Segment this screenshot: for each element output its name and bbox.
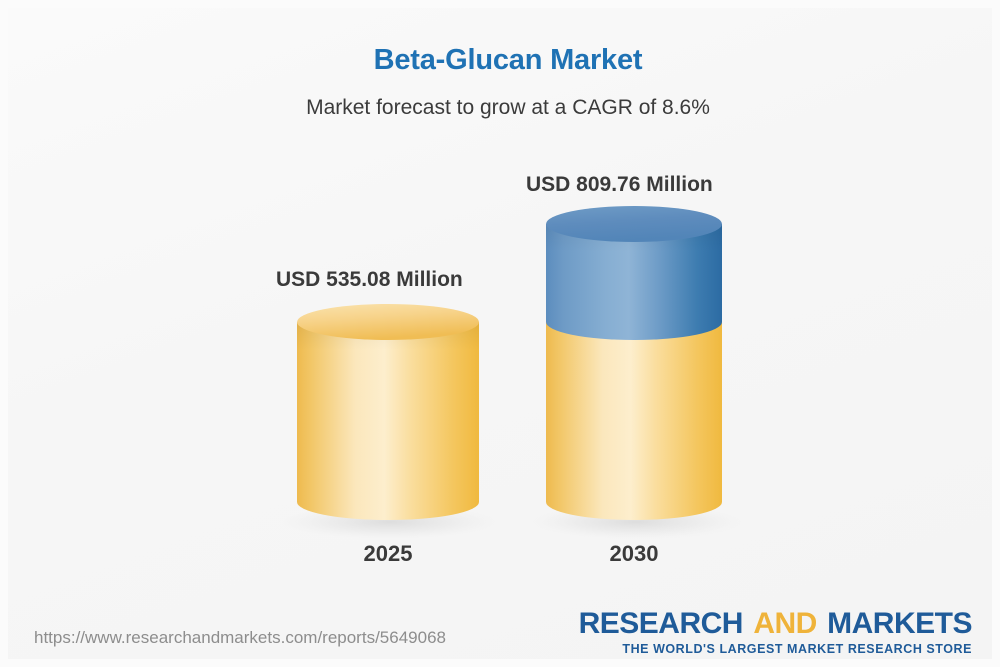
bar-2030-category-label: 2030 bbox=[546, 541, 722, 567]
cylinder-bar-chart bbox=[8, 8, 1000, 667]
infographic-canvas: Beta-Glucan Market Market forecast to gr… bbox=[0, 0, 1000, 667]
source-url[interactable]: https://www.researchandmarkets.com/repor… bbox=[34, 628, 446, 648]
bar-2025-value-label: USD 535.08 Million bbox=[276, 268, 463, 292]
bar-2025-category-label: 2025 bbox=[297, 541, 479, 567]
brand-word-and: AND bbox=[753, 607, 817, 640]
bar-2025-top-cap bbox=[297, 304, 479, 340]
brand-word-research: RESEARCH bbox=[579, 607, 743, 640]
bar-2030-top-cap bbox=[546, 206, 722, 242]
brand-wordmark: RESEARCH AND MARKETS bbox=[579, 608, 972, 640]
bar-2025-body bbox=[297, 322, 479, 520]
brand-tagline: THE WORLD'S LARGEST MARKET RESEARCH STOR… bbox=[579, 642, 972, 656]
brand-logo: RESEARCH AND MARKETS THE WORLD'S LARGEST… bbox=[579, 608, 972, 656]
brand-word-markets: MARKETS bbox=[827, 607, 972, 640]
bar-2030-base-segment bbox=[546, 322, 722, 520]
bar-2030-value-label: USD 809.76 Million bbox=[526, 173, 713, 197]
bar-2030[interactable] bbox=[531, 206, 741, 539]
bar-2025[interactable] bbox=[282, 304, 498, 539]
